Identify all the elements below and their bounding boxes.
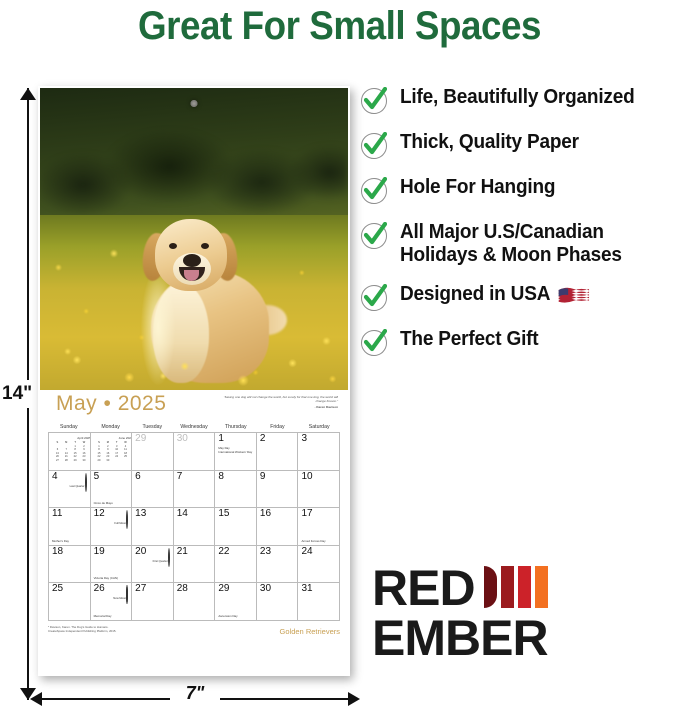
- calendar-day-cell[interactable]: 26New MoonMemorial Day: [91, 583, 133, 621]
- calendar-day-cell[interactable]: 29Ascension Day: [215, 583, 257, 621]
- feature-label: Thick, Quality Paper: [400, 131, 579, 154]
- weekday-header-row: SundayMondayTuesdayWednesdayThursdayFrid…: [40, 424, 348, 432]
- check-circle-icon: [360, 87, 388, 115]
- calendar-quote: “Saving one dog will not change the worl…: [218, 395, 338, 409]
- check-circle-icon: [360, 177, 388, 205]
- calendar-day-cell[interactable]: 5Cinco de Mayo: [91, 471, 133, 509]
- day-number: 20: [135, 547, 146, 557]
- day-number: 6: [135, 472, 141, 482]
- calendar-day-cell[interactable]: 14: [174, 508, 216, 546]
- dog-nose: [183, 254, 201, 267]
- day-number: 9: [260, 472, 266, 482]
- calendar-day-cell[interactable]: 30: [174, 433, 216, 471]
- mini-day: 30: [80, 459, 89, 463]
- height-label: 14": [2, 380, 32, 408]
- weekday-header: Tuesday: [131, 424, 173, 432]
- day-number: 18: [52, 547, 63, 557]
- feature-label: All Major U.S/CanadianHolidays & Moon Ph…: [400, 221, 622, 267]
- calendar-day-cell[interactable]: 21: [174, 546, 216, 584]
- day-number: 30: [260, 584, 271, 594]
- day-number: 10: [301, 472, 312, 482]
- feature-label: The Perfect Gift: [400, 328, 538, 351]
- calendar-product-image: May • 2025 “Saving one dog will not chan…: [38, 86, 350, 676]
- day-number: 16: [260, 509, 271, 519]
- day-event-label: May DayInternational Workers' Day: [218, 446, 254, 455]
- calendar-day-cell[interactable]: 8: [215, 471, 257, 509]
- calendar-day-cell[interactable]: 1May DayInternational Workers' Day: [215, 433, 257, 471]
- calendar-day-cell[interactable]: 24: [298, 546, 340, 584]
- mini-calendar-title: April 2025: [53, 436, 91, 440]
- moon-phase-last-icon: Last Quarter: [70, 474, 87, 492]
- weekday-header: Sunday: [48, 424, 90, 432]
- day-event-label: Ascension Day: [218, 614, 254, 618]
- day-number: 29: [218, 584, 229, 594]
- day-number: 14: [177, 509, 188, 519]
- photo-foreground-flowers: [40, 311, 348, 390]
- calendar-day-cell[interactable]: June 2025SMTWTFS123456789101112131415161…: [91, 433, 133, 471]
- day-number: 13: [135, 509, 146, 519]
- moon-phase-label: New Moon: [113, 597, 126, 600]
- day-number: 11: [52, 509, 62, 519]
- arrow-head-right: [348, 692, 360, 706]
- day-number: 23: [260, 547, 271, 557]
- feature-label: Hole For Hanging: [400, 176, 555, 199]
- day-event-label: Memorial Day: [94, 614, 130, 618]
- day-number: 4: [52, 472, 58, 482]
- moon-phase-full-icon: Full Moon: [114, 511, 128, 529]
- day-number: 30: [177, 434, 188, 444]
- day-number: 22: [218, 547, 229, 557]
- feature-label: Life, Beautifully Organized: [400, 86, 635, 109]
- calendar-day-cell[interactable]: 17Armed Forces Day: [298, 508, 340, 546]
- mini-day: 27: [53, 459, 62, 463]
- calendar-day-cell[interactable]: 20First Quarter: [132, 546, 174, 584]
- quote-text: “Saving one dog will not change the worl…: [224, 395, 338, 403]
- day-event-label: Victoria Day (CAN): [94, 576, 130, 580]
- day-number: 5: [94, 472, 100, 482]
- height-dimension: 14": [6, 88, 40, 700]
- calendar-series-title: Golden Retrievers: [280, 627, 340, 636]
- logo-word-red: RED: [372, 560, 475, 616]
- logo-bar-3: [518, 566, 531, 608]
- day-number: 1: [218, 434, 224, 444]
- feature-list: Life, Beautifully OrganizedThick, Qualit…: [360, 86, 675, 373]
- moon-phase-label: Full Moon: [114, 522, 126, 525]
- calendar-day-cell[interactable]: 27: [132, 583, 174, 621]
- calendar-day-cell[interactable]: 19Victoria Day (CAN): [91, 546, 133, 584]
- arrow-head-left: [30, 692, 42, 706]
- feature-label: Designed in USA: [400, 283, 590, 306]
- us-flag-icon: [558, 285, 590, 305]
- mini-day: [112, 459, 121, 463]
- day-number: 15: [218, 509, 229, 519]
- mini-day: [121, 459, 130, 463]
- weekday-header: Wednesday: [173, 424, 215, 432]
- day-number: 25: [52, 584, 63, 594]
- calendar-week-row: 1819Victoria Day (CAN)20First Quarter212…: [49, 546, 340, 584]
- day-number: 7: [177, 472, 183, 482]
- calendar-day-cell[interactable]: 29: [132, 433, 174, 471]
- calendar-day-cell[interactable]: 31: [298, 583, 340, 621]
- moon-phase-new-icon: New Moon: [113, 586, 128, 604]
- calendar-week-row: April 2025SMTWTFS12345678910111213141516…: [49, 433, 340, 471]
- mini-day: 29: [71, 459, 80, 463]
- weekday-header: Thursday: [215, 424, 257, 432]
- page-title: Great For Small Spaces: [27, 4, 652, 49]
- day-number: 28: [177, 584, 188, 594]
- calendar-day-cell[interactable]: 18: [49, 546, 91, 584]
- feature-label-line1: All Major U.S/Canadian: [400, 221, 604, 243]
- mini-calendar-title: June 2025: [95, 436, 133, 440]
- logo-row-ember: EMBER: [372, 612, 602, 664]
- feature-label-line1: Thick, Quality Paper: [400, 131, 579, 153]
- weekday-header: Saturday: [298, 424, 340, 432]
- feature-label-line1: Hole For Hanging: [400, 176, 555, 198]
- width-label: 7": [180, 683, 211, 704]
- day-number: 8: [218, 472, 224, 482]
- mini-day: 29: [95, 459, 104, 463]
- feature-item: The Perfect Gift: [360, 328, 675, 357]
- dimension-line-left: [42, 698, 170, 700]
- calendar-grid-page: May • 2025 “Saving one dog will not chan…: [40, 392, 348, 674]
- day-number: 24: [301, 547, 312, 557]
- feature-item: Designed in USA: [360, 283, 675, 312]
- feature-label-line1: The Perfect Gift: [400, 328, 538, 350]
- calendar-day-cell[interactable]: 7: [174, 471, 216, 509]
- feature-label-line1: Designed in USA: [400, 283, 550, 305]
- dog-eye-right: [201, 243, 209, 249]
- width-dimension: 7": [30, 686, 360, 712]
- dog-eye-left: [169, 243, 177, 249]
- check-circle-icon: [360, 222, 388, 250]
- calendar-day-cell[interactable]: 4Last Quarter: [49, 471, 91, 509]
- calendar-day-cell[interactable]: 2: [257, 433, 299, 471]
- calendar-day-cell[interactable]: 25: [49, 583, 91, 621]
- calendar-header: May • 2025 “Saving one dog will not chan…: [40, 392, 348, 424]
- calendar-day-cell[interactable]: 6: [132, 471, 174, 509]
- calendar-day-cell[interactable]: 16: [257, 508, 299, 546]
- calendar-photo: [40, 88, 348, 390]
- calendar-day-cell[interactable]: 9: [257, 471, 299, 509]
- day-number: 12: [94, 509, 105, 519]
- calendar-month-title: May • 2025: [56, 392, 166, 416]
- day-event-label: Cinco de Mayo: [94, 501, 130, 505]
- logo-ember-bars: [490, 566, 548, 608]
- weekday-header: Monday: [90, 424, 132, 432]
- mini-calendar: June 2025SMTWTFS123456789101112131415161…: [95, 436, 133, 462]
- check-circle-icon: [360, 132, 388, 160]
- day-number: 31: [301, 584, 312, 594]
- calendar-day-cell[interactable]: 23: [257, 546, 299, 584]
- calendar-footer: * Davison, Karen. The Dog's Guide to Hum…: [48, 623, 340, 645]
- calendar-week-row: 2526New MoonMemorial Day272829Ascension …: [49, 583, 340, 621]
- calendar-day-cell[interactable]: 13: [132, 508, 174, 546]
- calendar-day-cell[interactable]: 22: [215, 546, 257, 584]
- logo-row-red: RED: [372, 562, 602, 614]
- check-circle-icon: [360, 284, 388, 312]
- day-number: 17: [301, 509, 312, 519]
- month-grid: April 2025SMTWTFS12345678910111213141516…: [48, 432, 340, 621]
- check-circle-icon: [360, 329, 388, 357]
- punch-hole-icon: [191, 100, 198, 107]
- day-number: 2: [260, 434, 266, 444]
- calendar-credit-text: * Davison, Karen. The Dog's Guide to Hum…: [48, 625, 116, 634]
- feature-label-line2: Holidays & Moon Phases: [400, 244, 622, 267]
- logo-bar-2: [501, 566, 514, 608]
- mini-day: 30: [103, 459, 112, 463]
- day-event-label: Mother's Day: [52, 539, 88, 543]
- calendar-week-row: 4Last Quarter5Cinco de Mayo678910: [49, 471, 340, 509]
- calendar-day-cell[interactable]: 15: [215, 508, 257, 546]
- day-event-label: Armed Forces Day: [301, 539, 337, 543]
- calendar-day-cell[interactable]: April 2025SMTWTFS12345678910111213141516…: [49, 433, 91, 471]
- calendar-day-cell[interactable]: 28: [174, 583, 216, 621]
- logo-word-ember: EMBER: [372, 610, 548, 666]
- weekday-header: Friday: [257, 424, 299, 432]
- feature-item: Hole For Hanging: [360, 176, 675, 205]
- feature-item: Thick, Quality Paper: [360, 131, 675, 160]
- mini-calendar: April 2025SMTWTFS12345678910111213141516…: [53, 436, 91, 462]
- calendar-day-cell[interactable]: 12Full Moon: [91, 508, 133, 546]
- moon-phase-label: First Quarter: [153, 560, 168, 563]
- calendar-day-cell[interactable]: 3: [298, 433, 340, 471]
- red-ember-logo: RED EMBER: [372, 562, 602, 664]
- feature-item: All Major U.S/CanadianHolidays & Moon Ph…: [360, 221, 675, 267]
- dimension-line-right: [220, 698, 348, 700]
- day-number: 26: [94, 584, 105, 594]
- moon-phase-first-icon: First Quarter: [153, 549, 170, 567]
- feature-item: Life, Beautifully Organized: [360, 86, 675, 115]
- day-number: 21: [177, 547, 188, 557]
- calendar-week-row: 11Mother's Day12Full Moon1314151617Armed…: [49, 508, 340, 546]
- mini-day: 28: [62, 459, 71, 463]
- logo-bar-4: [535, 566, 548, 608]
- calendar-day-cell[interactable]: 10: [298, 471, 340, 509]
- logo-bar-1: [484, 566, 497, 608]
- moon-phase-label: Last Quarter: [70, 485, 85, 488]
- day-number: 3: [301, 434, 307, 444]
- day-number: 27: [135, 584, 146, 594]
- day-number: 29: [135, 434, 146, 444]
- calendar-day-cell[interactable]: 11Mother's Day: [49, 508, 91, 546]
- feature-label-line1: Life, Beautifully Organized: [400, 86, 635, 108]
- quote-attribution: - Karen Davison: [218, 405, 338, 409]
- day-number: 19: [94, 547, 105, 557]
- calendar-day-cell[interactable]: 30: [257, 583, 299, 621]
